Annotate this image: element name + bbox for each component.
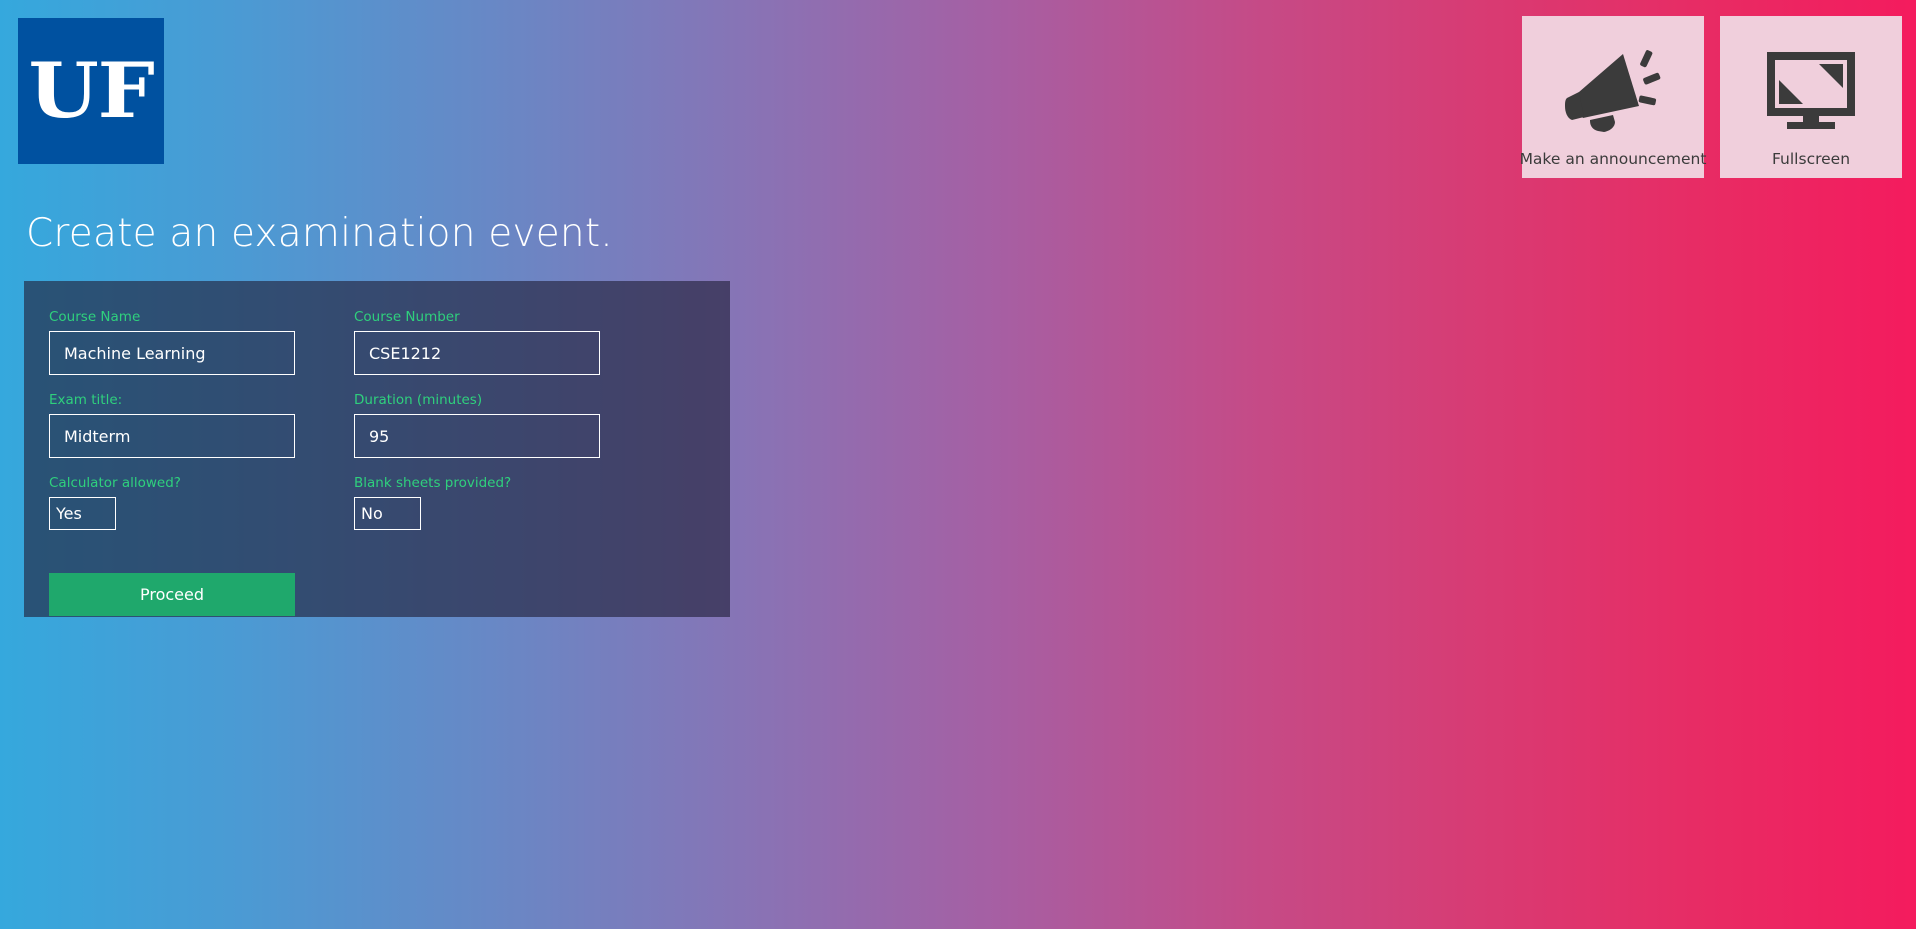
page-title: Create an examination event.	[26, 211, 613, 256]
megaphone-icon	[1565, 48, 1661, 132]
field-course-number: Course Number	[354, 309, 629, 375]
exam-form-card: Course Name Course Number Exam title: Du…	[24, 281, 730, 617]
blank-sheets-select[interactable]: No	[354, 497, 421, 530]
label-calculator-allowed: Calculator allowed?	[49, 475, 324, 491]
fullscreen-icon-wrap	[1720, 30, 1902, 150]
fullscreen-label: Fullscreen	[1772, 150, 1850, 178]
course-name-input[interactable]	[49, 331, 295, 375]
field-course-name: Course Name	[49, 309, 324, 375]
fullscreen-monitor-icon	[1765, 50, 1857, 130]
course-number-input[interactable]	[354, 331, 600, 375]
make-announcement-label: Make an announcement	[1520, 150, 1707, 178]
label-course-name: Course Name	[49, 309, 324, 325]
label-blank-sheets: Blank sheets provided?	[354, 475, 629, 491]
calculator-allowed-select[interactable]: Yes	[49, 497, 116, 530]
toolbar: Make an announcement Fullscreen	[1522, 16, 1902, 178]
duration-input[interactable]	[354, 414, 600, 458]
label-duration: Duration (minutes)	[354, 392, 629, 408]
uf-logo-text: UF	[28, 53, 153, 129]
field-blank-sheets: Blank sheets provided? No	[354, 475, 629, 530]
label-exam-title: Exam title:	[49, 392, 324, 408]
proceed-button[interactable]: Proceed	[49, 573, 295, 616]
field-duration: Duration (minutes)	[354, 392, 629, 458]
exam-title-input[interactable]	[49, 414, 295, 458]
field-exam-title: Exam title:	[49, 392, 324, 458]
megaphone-icon-wrap	[1522, 30, 1704, 150]
field-calculator-allowed: Calculator allowed? Yes	[49, 475, 324, 530]
label-course-number: Course Number	[354, 309, 629, 325]
fullscreen-button[interactable]: Fullscreen	[1720, 16, 1902, 178]
form-grid: Course Name Course Number Exam title: Du…	[49, 309, 730, 547]
make-announcement-button[interactable]: Make an announcement	[1522, 16, 1704, 178]
uf-logo: UF	[18, 18, 164, 164]
